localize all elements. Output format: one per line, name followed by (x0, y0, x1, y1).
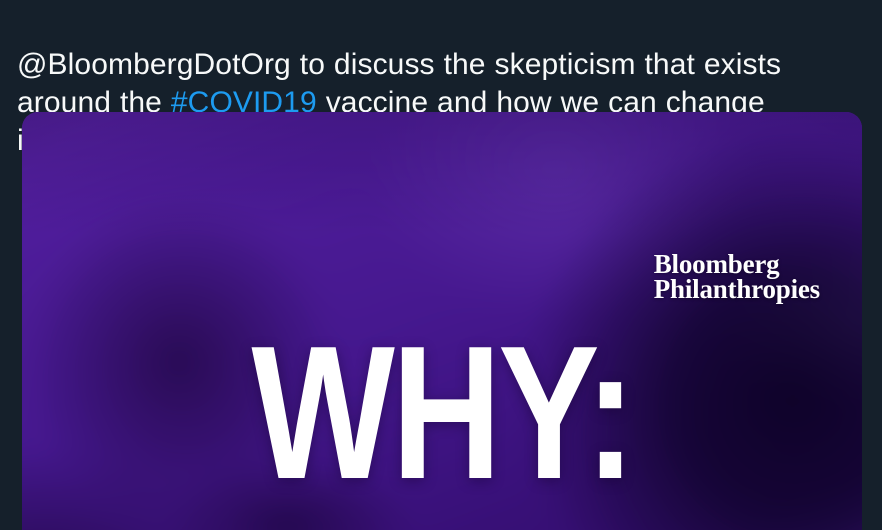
video-media-card[interactable]: Bloomberg Philanthropies WHY: VACCINE SK… (22, 112, 862, 530)
logo-line-philanthropies: Philanthropies (654, 277, 820, 302)
tweet-line-clipped: @BloombergDotOrg to discuss the skeptici… (17, 46, 857, 84)
bloomberg-philanthropies-logo: Bloomberg Philanthropies (654, 252, 820, 302)
video-vignette-overlay (22, 112, 862, 530)
tweet-media-screen: @BloombergDotOrg to discuss the skeptici… (0, 0, 882, 530)
